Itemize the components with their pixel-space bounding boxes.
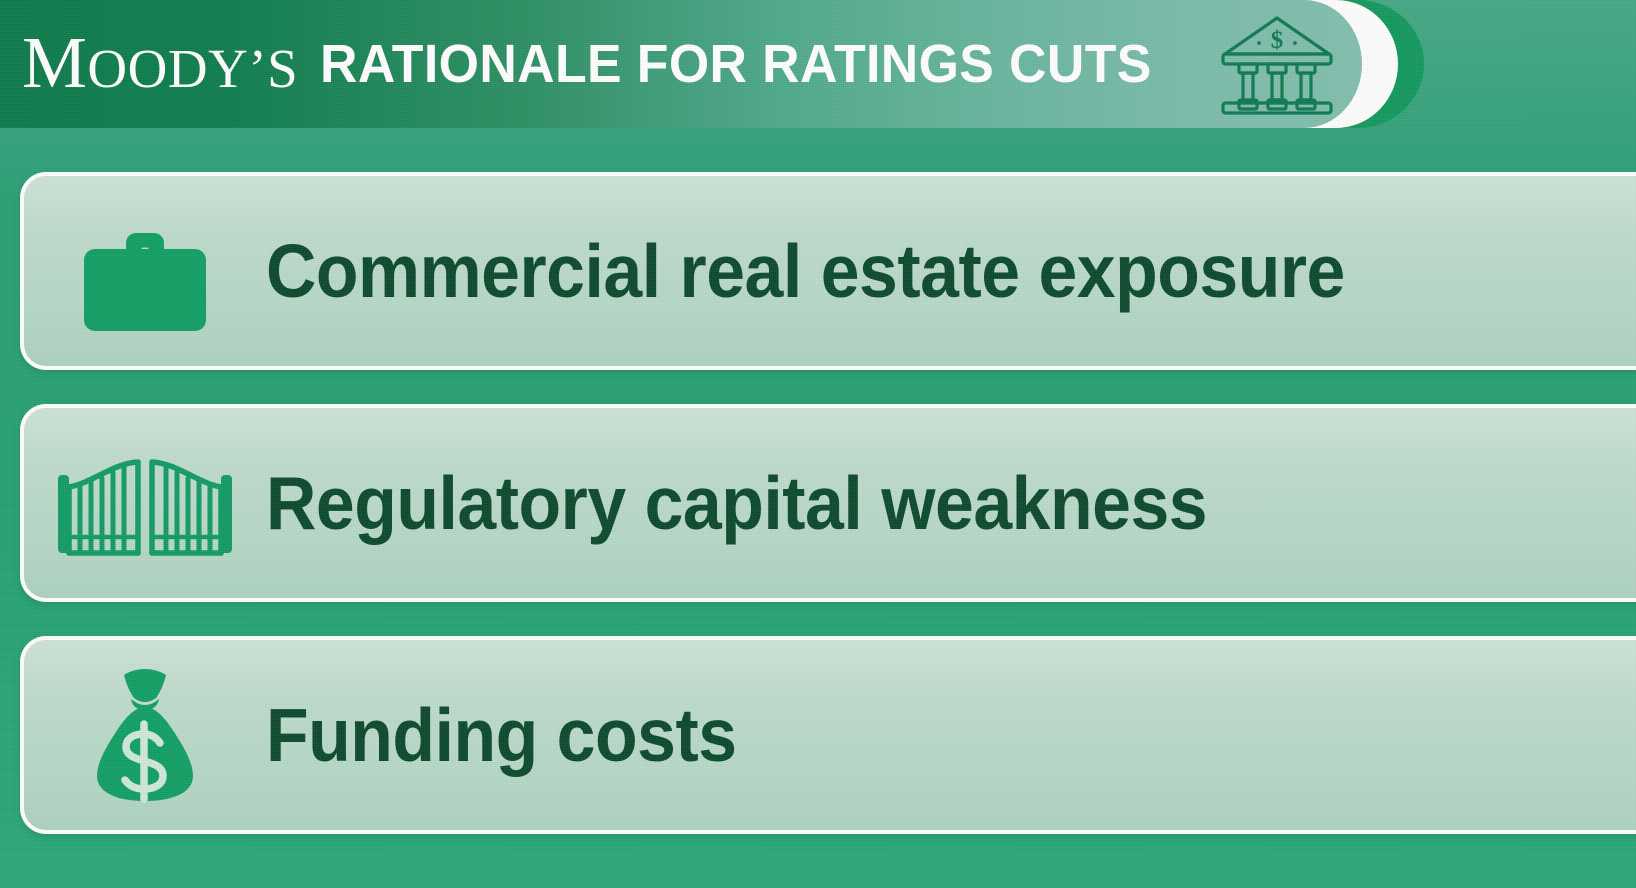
gate-icon-glyph xyxy=(52,449,238,557)
briefcase-icon-glyph xyxy=(74,209,216,334)
list-item-label: Funding costs xyxy=(266,698,737,773)
list-item[interactable]: Regulatory capital weakness xyxy=(20,404,1636,602)
brand-apostrophe-s: ’S xyxy=(248,38,298,99)
list-item[interactable]: Funding costs xyxy=(20,636,1636,834)
header-content: MOODY’S RATIONALE FOR RATINGS CUTS $ xyxy=(0,0,1362,128)
bank-icon: $ xyxy=(1217,12,1337,116)
svg-text:$: $ xyxy=(1270,27,1283,54)
briefcase-icon xyxy=(24,209,266,334)
money-bag-icon xyxy=(24,665,266,805)
brand-smallcaps: OODY xyxy=(87,38,248,99)
bank-icon-glyph: $ xyxy=(1217,12,1337,116)
slide-canvas: MOODY’S RATIONALE FOR RATINGS CUTS $ xyxy=(0,0,1636,888)
rationale-list: Commercial real estate exposure xyxy=(20,172,1636,868)
header-headline: RATIONALE FOR RATINGS CUTS xyxy=(320,37,1152,91)
list-item[interactable]: Commercial real estate exposure xyxy=(20,172,1636,370)
list-item-label: Commercial real estate exposure xyxy=(266,234,1345,309)
header-banner: MOODY’S RATIONALE FOR RATINGS CUTS $ xyxy=(0,0,1424,128)
money-bag-icon-glyph xyxy=(86,665,204,805)
moodys-wordmark: MOODY’S xyxy=(22,26,298,99)
list-item-label: Regulatory capital weakness xyxy=(266,466,1207,541)
brand-initial: M xyxy=(22,22,87,103)
gate-icon xyxy=(24,449,266,557)
